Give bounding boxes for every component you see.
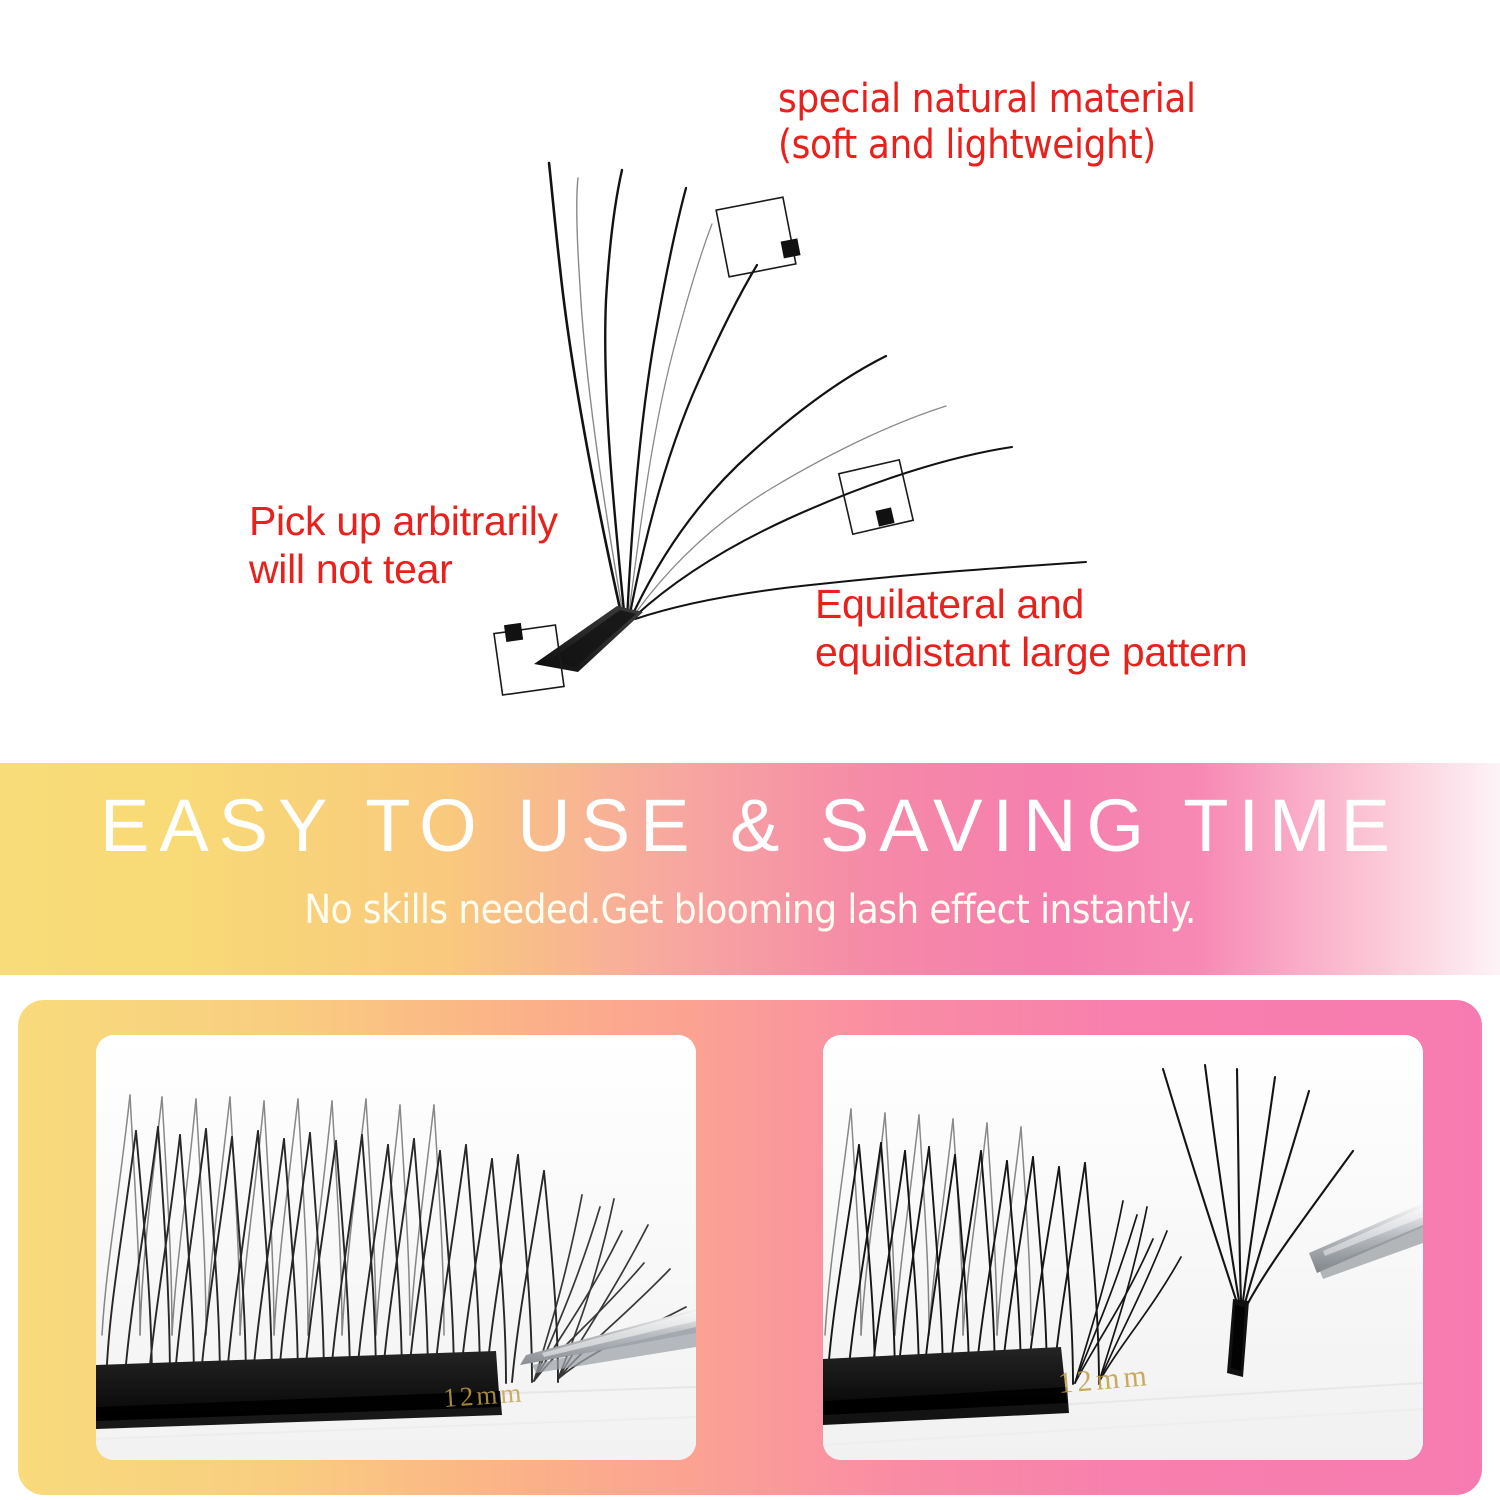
callout-pick-up-arbitrarily: Pick up arbitrarily will not tear (249, 498, 558, 593)
lash-base (534, 606, 643, 672)
hero-illustration-section: special natural material (soft and light… (0, 0, 1500, 763)
gradient-banner-section: EASY TO USE & SAVING TIME No skills need… (0, 763, 1500, 975)
banner-headline: EASY TO USE & SAVING TIME (0, 789, 1500, 863)
product-feature-page: special natural material (soft and light… (0, 0, 1500, 1500)
lash-tray-photo: 12mm (96, 1035, 696, 1460)
tray-size-label: 12mm (442, 1377, 525, 1413)
photo-gallery-frame: 12mm (18, 1000, 1482, 1495)
photo-panel-single-fan: 12mm (823, 1035, 1423, 1460)
lash-strands (549, 163, 1086, 622)
banner-subheadline: No skills needed.Get blooming lash effec… (0, 890, 1500, 930)
callout-equilateral-pattern: Equilateral and equidistant large patter… (815, 581, 1247, 676)
lash-strands-secondary (577, 178, 946, 620)
photo-panel-lash-tray: 12mm (96, 1035, 696, 1460)
marker-square-upper (716, 197, 800, 277)
lash-fan-diagram (0, 0, 1500, 763)
callout-special-material: special natural material (soft and light… (778, 76, 1196, 169)
marker-square-middle (839, 460, 913, 534)
single-fan-photo: 12mm (823, 1035, 1423, 1460)
